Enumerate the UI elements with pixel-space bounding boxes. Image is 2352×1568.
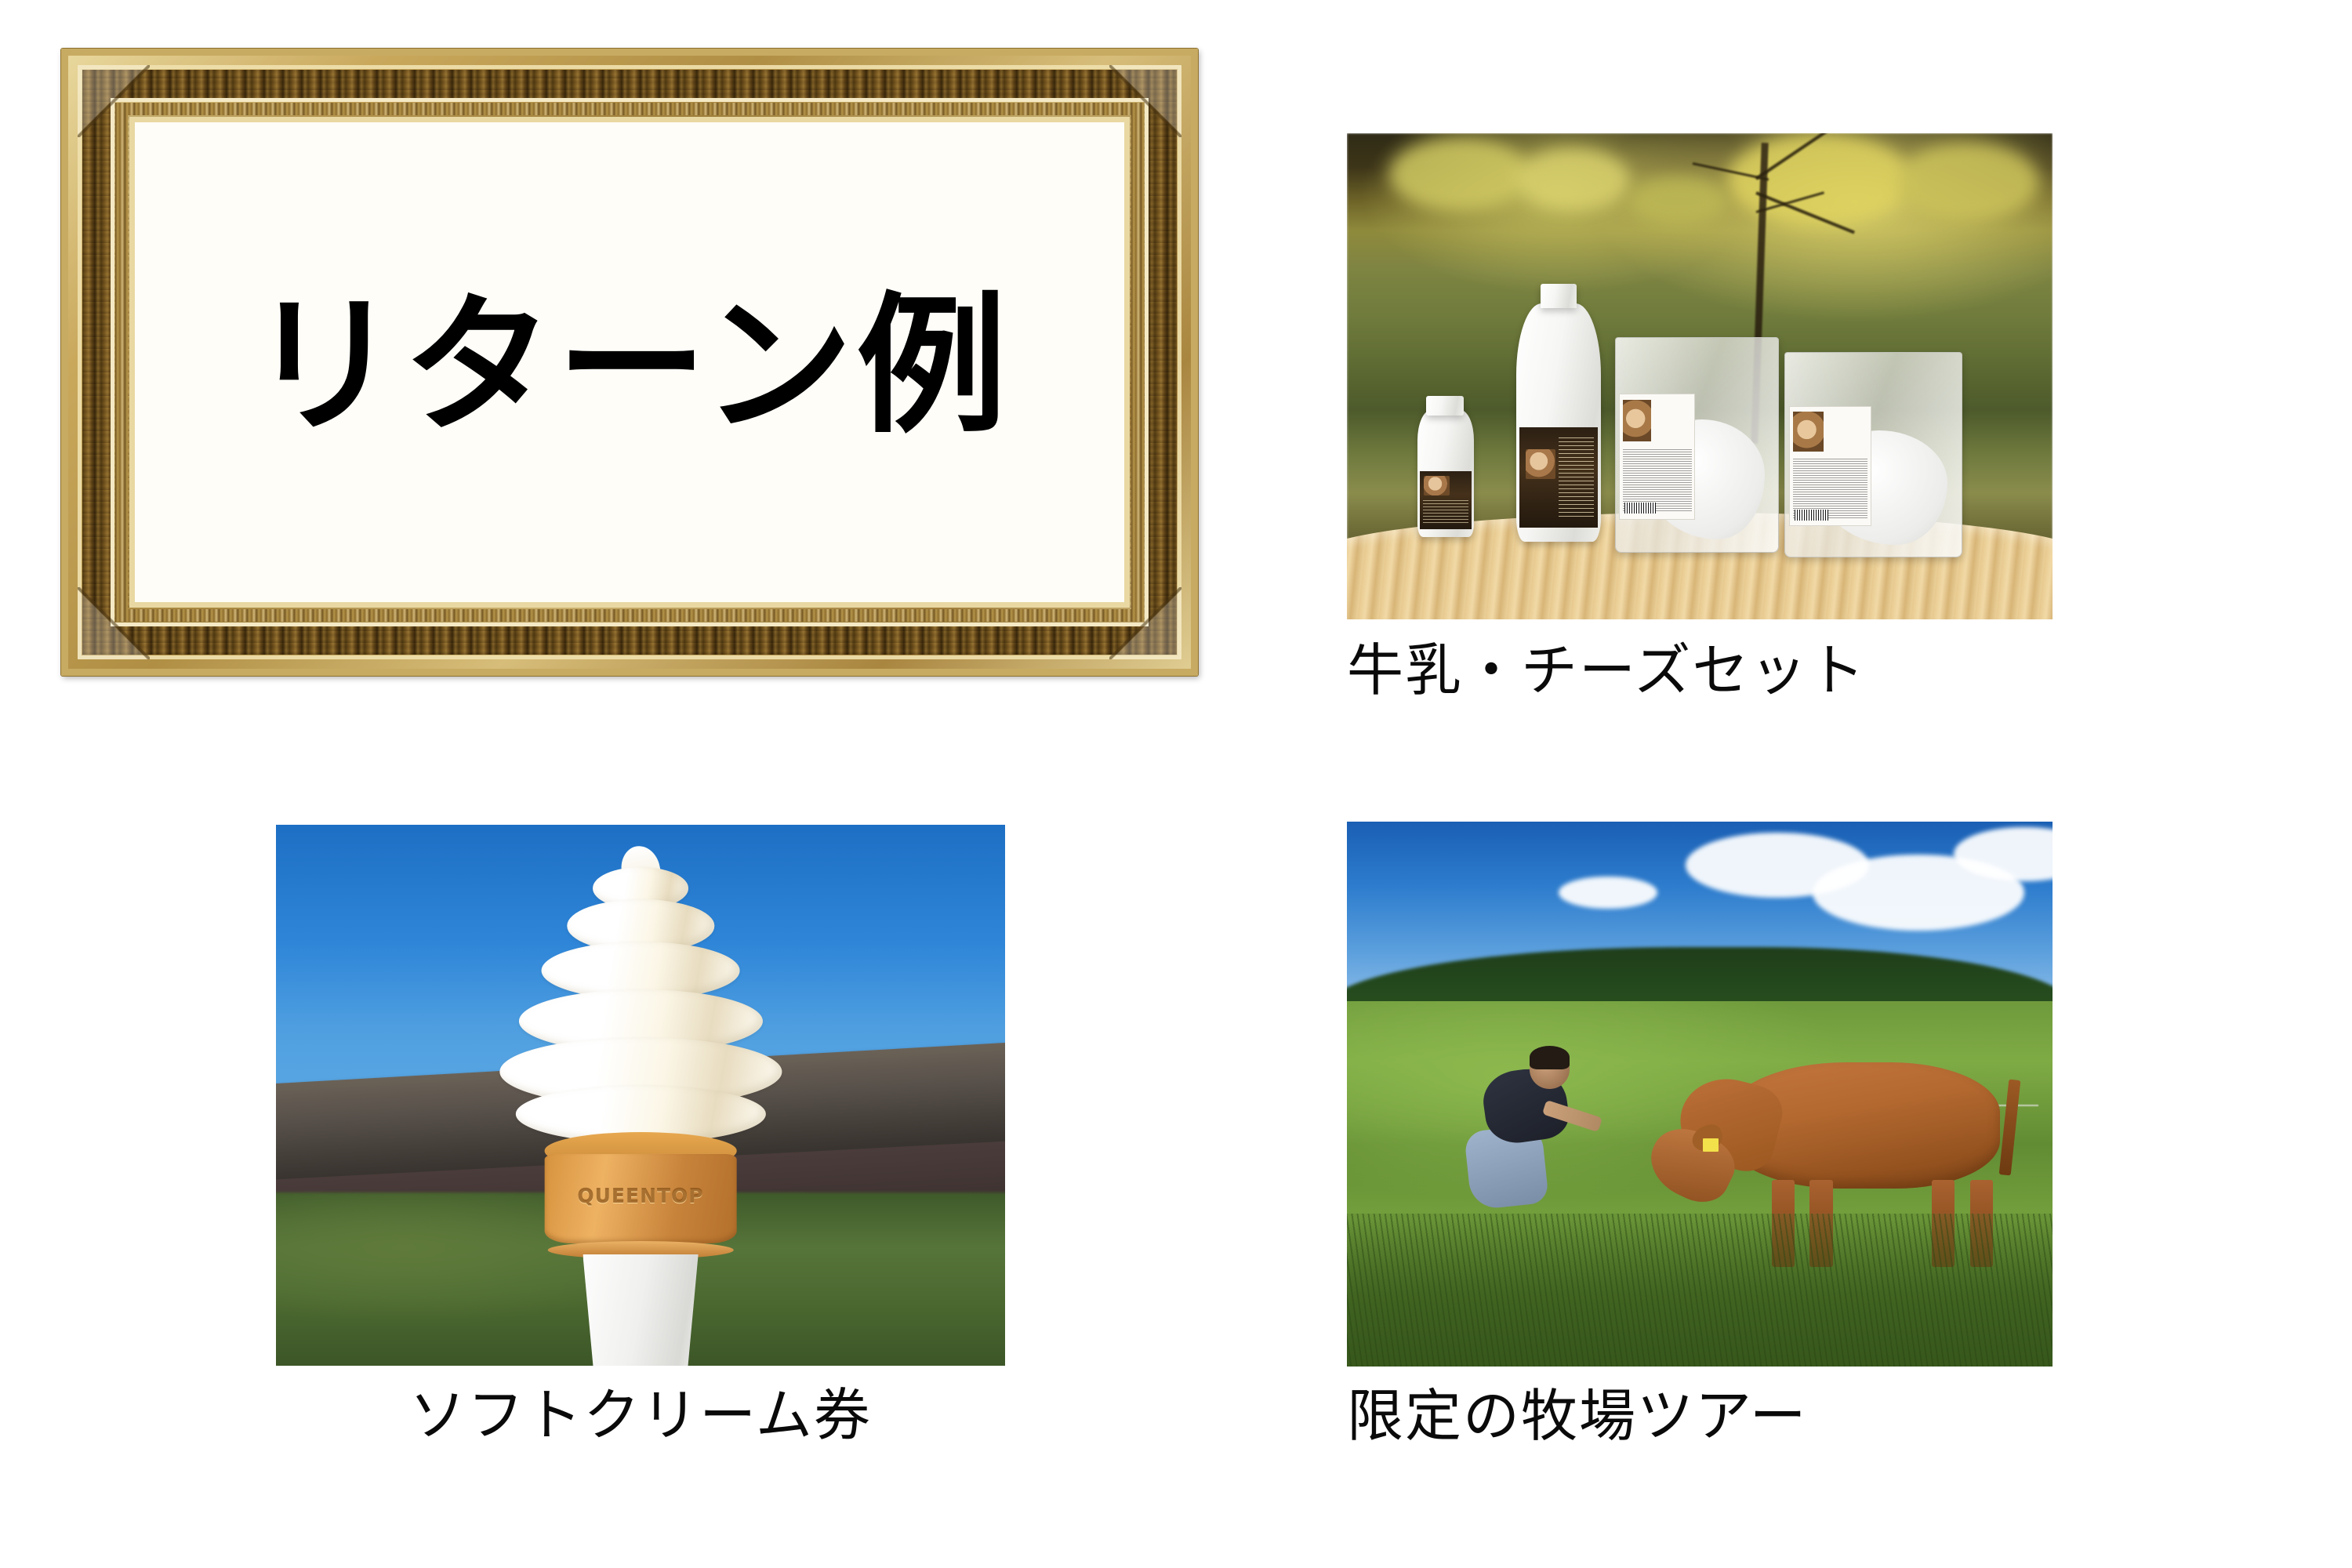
photo-milk-cheese-set [1347,133,2053,619]
cheese-pouch-label [1789,406,1872,526]
cloud [1559,877,1657,909]
barcode [1624,503,1656,514]
return-item-soft-cream-ticket: QUEENTOP ソフトクリーム券 [276,825,1005,1448]
cone-emboss-text: QUEENTOP [544,1185,737,1207]
product-bottle-large [1516,303,1601,542]
bottle-small-label [1420,471,1472,529]
foliage-blur [1897,143,2038,220]
item-caption-milk-cheese-set: 牛乳・チーズセット [1347,638,2053,703]
cow-ear-tag [1703,1138,1718,1152]
return-item-limited-farm-tour: 限定の牧場ツアー [1347,822,2053,1449]
barcode [1795,510,1828,521]
cow-photo-on-label [1623,400,1651,442]
photo-soft-cream: QUEENTOP [276,825,1005,1366]
bottle-large-cap [1541,284,1577,308]
slide-canvas: リターン例 [0,0,2352,1568]
soft-serve-cone: QUEENTOP [480,836,800,1366]
cow-photo-on-label [1526,449,1555,479]
cow-tail [1999,1080,2020,1176]
return-item-milk-cheese-set: 牛乳・チーズセット [1347,133,2053,703]
item-caption-limited-farm-tour: 限定の牧場ツアー [1347,1384,2053,1449]
photo-farm-tour [1347,822,2053,1367]
frame-canvas: リターン例 [135,122,1124,602]
cone-body: QUEENTOP [544,1154,737,1244]
product-bottle-small [1417,410,1474,536]
foliage-blur [1629,177,1728,226]
label-text-lines [1423,500,1468,526]
item-caption-soft-cream-ticket: ソフトクリーム券 [276,1383,1005,1448]
person-hair [1530,1046,1570,1069]
grass-foreground [1347,1214,2053,1367]
cow-photo-on-label [1793,412,1824,452]
foliage-blur [1389,138,1530,211]
bottle-large-label [1519,427,1597,528]
bottle-small-cap [1426,396,1465,416]
foliage-blur [1516,148,1629,212]
paper-sleeve [583,1254,698,1366]
cheese-pouch-label [1619,394,1695,519]
person-touching-cow [1460,1040,1594,1203]
cow-photo-on-label [1424,476,1450,495]
ornate-gold-picture-frame: リターン例 [61,49,1198,676]
label-text-lines [1559,437,1594,517]
page-title: リターン例 [249,292,1010,442]
product-cheese-pouch [1784,352,1962,557]
product-cheese-pouch [1615,337,1779,553]
